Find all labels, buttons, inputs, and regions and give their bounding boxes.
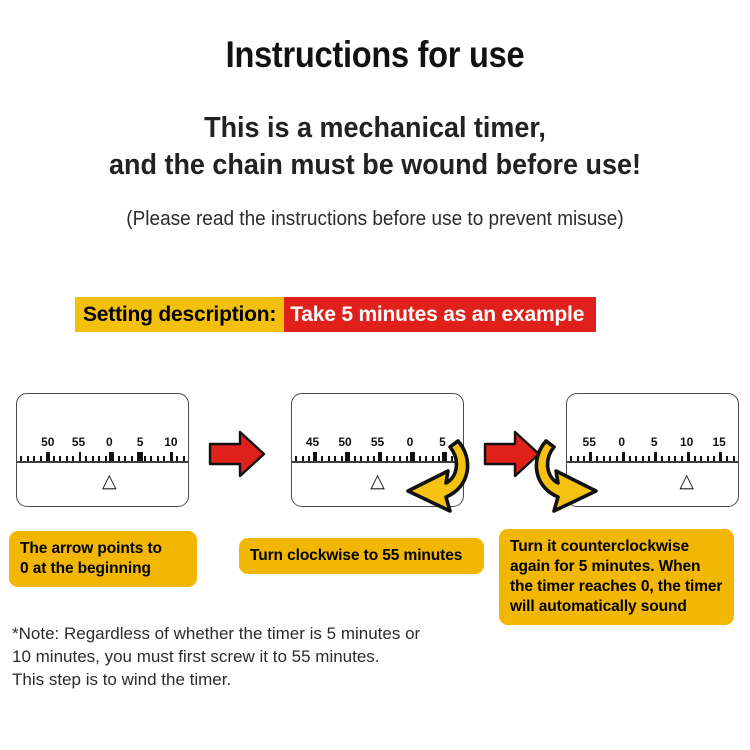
footnote: *Note: Regardless of whether the timer i…	[12, 622, 532, 691]
dial-label: 45	[306, 435, 319, 449]
caption-line: The arrow points to	[20, 539, 186, 559]
caption-line: the timer reaches 0, the timer	[510, 577, 723, 597]
dial-label: 10	[680, 435, 693, 449]
page-subtitle: This is a mechanical timer, and the chai…	[26, 110, 724, 184]
timer-dial-step-1: 50 55 0 5 10 △	[16, 393, 189, 507]
caption-line: Turn clockwise to 55 minutes	[250, 546, 473, 566]
banner-example: Take 5 minutes as an example	[284, 297, 596, 332]
dial-label: 5	[137, 435, 144, 449]
dial-baseline	[17, 461, 188, 463]
dial-scale: 50 55 0 5 10	[17, 435, 188, 469]
step-caption-3: Turn it counterclockwise again for 5 min…	[499, 529, 734, 625]
caption-line: will automatically sound	[510, 597, 723, 617]
subtitle-note: (Please read the instructions before use…	[19, 208, 732, 231]
footnote-line: This step is to wind the timer.	[12, 668, 532, 691]
caption-line: again for 5 minutes. When	[510, 557, 723, 577]
step-caption-1: The arrow points to 0 at the beginning	[9, 531, 197, 587]
dial-scale-labels: 50 55 0 5 10	[17, 435, 188, 450]
turn-clockwise-arrow-icon	[362, 437, 474, 515]
subtitle-line-2: and the chain must be wound before use!	[26, 147, 724, 184]
dial-label: 0	[106, 435, 113, 449]
page-title: Instructions for use	[45, 34, 705, 76]
dial-label: 50	[41, 435, 54, 449]
step-caption-2: Turn clockwise to 55 minutes	[239, 538, 484, 574]
turn-counterclockwise-arrow-icon	[530, 437, 642, 515]
dial-label: 15	[713, 435, 726, 449]
dial-label: 55	[72, 435, 85, 449]
dial-label: 5	[651, 435, 658, 449]
dial-label: 50	[338, 435, 351, 449]
flow-arrow-right-icon	[208, 428, 266, 480]
dial-pointer-triangle: △	[679, 472, 694, 491]
dial-ticks	[17, 452, 188, 461]
dial-pointer-triangle: △	[102, 472, 117, 491]
banner-label: Setting description:	[75, 297, 284, 332]
caption-line: Turn it counterclockwise	[510, 537, 723, 557]
subtitle-line-1: This is a mechanical timer,	[26, 110, 724, 147]
caption-line: 0 at the beginning	[20, 559, 186, 579]
footnote-line: *Note: Regardless of whether the timer i…	[12, 622, 532, 645]
dial-label: 10	[164, 435, 177, 449]
footnote-line: 10 minutes, you must first screw it to 5…	[12, 645, 532, 668]
setting-description-banner: Setting description: Take 5 minutes as a…	[75, 297, 596, 332]
